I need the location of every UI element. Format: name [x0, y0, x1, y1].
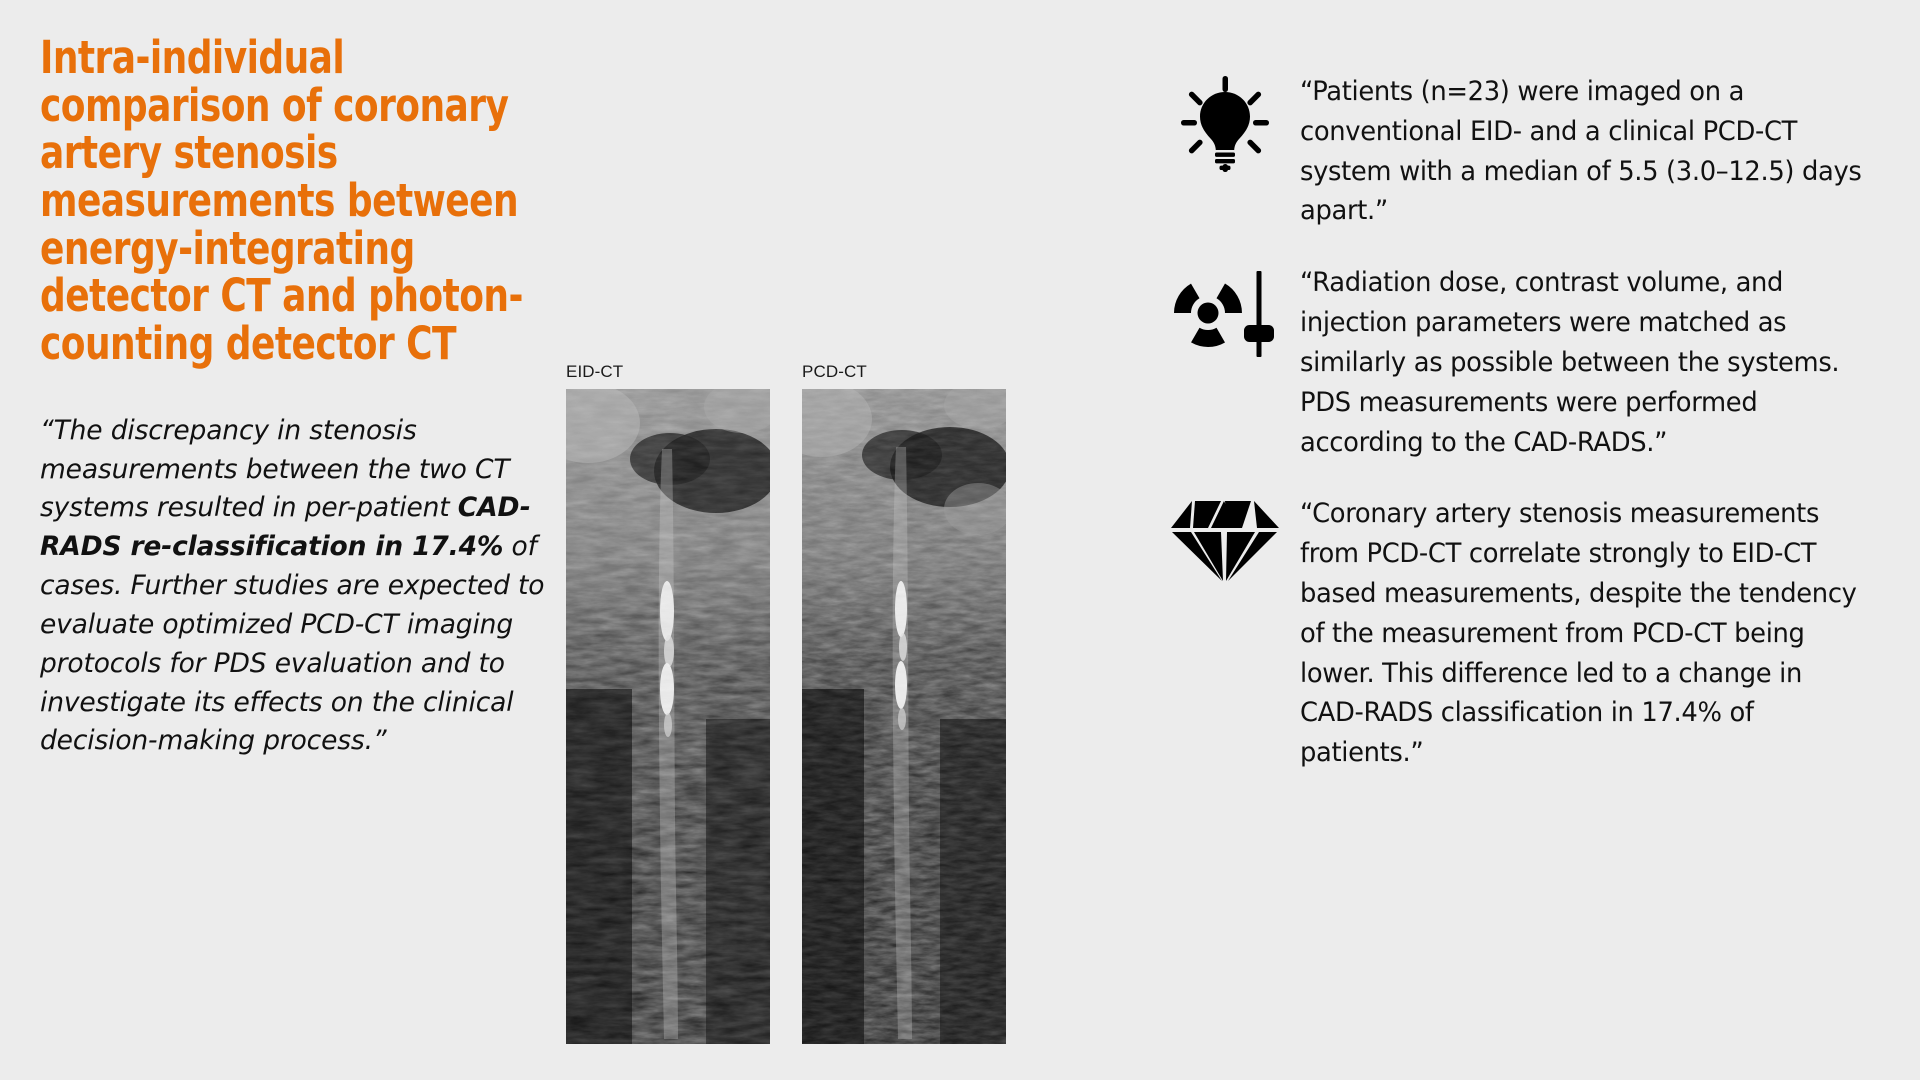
- key-point-3: “Coronary artery stenosis measurements f…: [1150, 494, 1890, 773]
- poster-slide: Intra-individual comparison of coronary …: [0, 0, 1920, 1080]
- radiation-dose-icon: [1150, 263, 1300, 361]
- diamond-icon: [1150, 494, 1300, 584]
- figure-label-pcd: PCD-CT: [802, 362, 1006, 382]
- left-quote-part2: of cases. Further studies are expected t…: [40, 531, 544, 756]
- key-point-1: “Patients (n=23) were imaged on a conven…: [1150, 72, 1890, 231]
- key-point-3-text: “Coronary artery stenosis measurements f…: [1300, 494, 1863, 773]
- page-title: Intra-individual comparison of coronary …: [40, 34, 568, 368]
- lightbulb-icon: [1150, 72, 1300, 172]
- key-point-1-text: “Patients (n=23) were imaged on a conven…: [1300, 72, 1863, 231]
- right-column: “Patients (n=23) were imaged on a conven…: [1150, 72, 1890, 773]
- left-quote: “The discrepancy in stenosis measurement…: [40, 412, 552, 761]
- left-quote-part1: “The discrepancy in stenosis measurement…: [40, 415, 509, 524]
- ct-figure-area: EID-CT: [566, 362, 1006, 1044]
- left-column: Intra-individual comparison of coronary …: [40, 34, 570, 761]
- ct-scan-eid: [566, 389, 770, 1044]
- figure-pcd: PCD-CT: [802, 362, 1006, 1044]
- key-point-2-text: “Radiation dose, contrast volume, and in…: [1300, 263, 1863, 462]
- figure-eid: EID-CT: [566, 362, 770, 1044]
- key-point-2: “Radiation dose, contrast volume, and in…: [1150, 263, 1890, 462]
- ct-scan-pcd: [802, 389, 1006, 1044]
- figure-label-eid: EID-CT: [566, 362, 770, 382]
